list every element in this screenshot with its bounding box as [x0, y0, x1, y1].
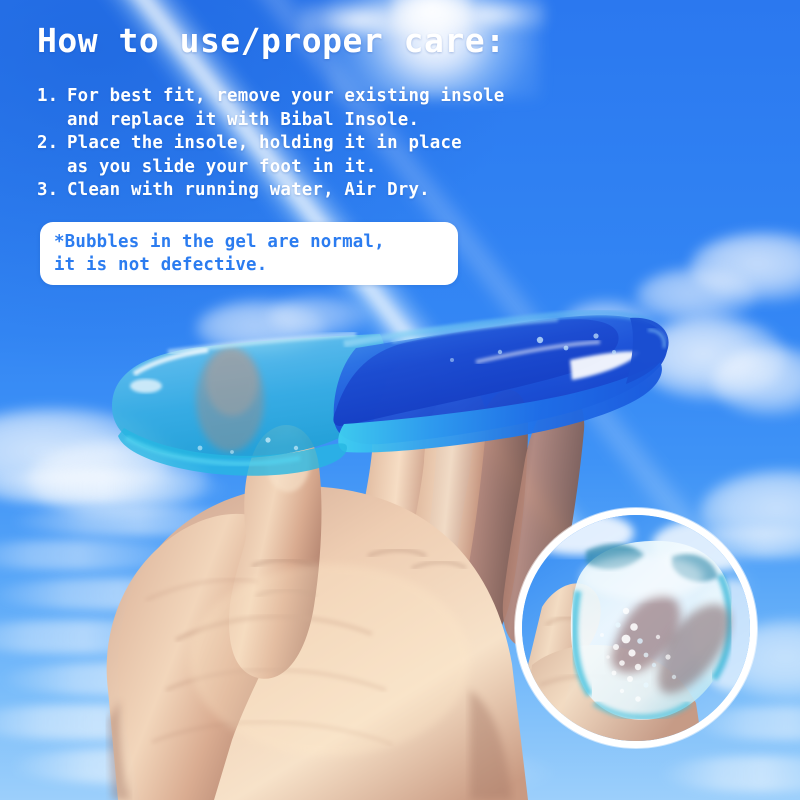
callout-note-text: *Bubbles in the gel are normal, it is no…: [54, 231, 458, 276]
product-infographic: How to use/proper care: 1. For best fit,…: [0, 0, 800, 800]
list-item: 1. For best fit, remove your existing in…: [37, 85, 657, 132]
gel-bubbles-detail-circle: [515, 508, 757, 748]
list-item-number: 2.: [37, 132, 67, 156]
page-title: How to use/proper care:: [37, 21, 505, 61]
instruction-list: 1. For best fit, remove your existing in…: [37, 85, 657, 203]
list-item-text: Clean with running water, Air Dry.: [67, 179, 657, 203]
list-item-text: Place the insole, holding it in place as…: [67, 132, 657, 179]
list-item: 3. Clean with running water, Air Dry.: [37, 179, 657, 203]
callout-box: *Bubbles in the gel are normal, it is no…: [40, 222, 458, 285]
list-item: 2. Place the insole, holding it in place…: [37, 132, 657, 179]
list-item-number: 1.: [37, 85, 67, 109]
list-item-number: 3.: [37, 179, 67, 203]
list-item-text: For best fit, remove your existing insol…: [67, 85, 657, 132]
